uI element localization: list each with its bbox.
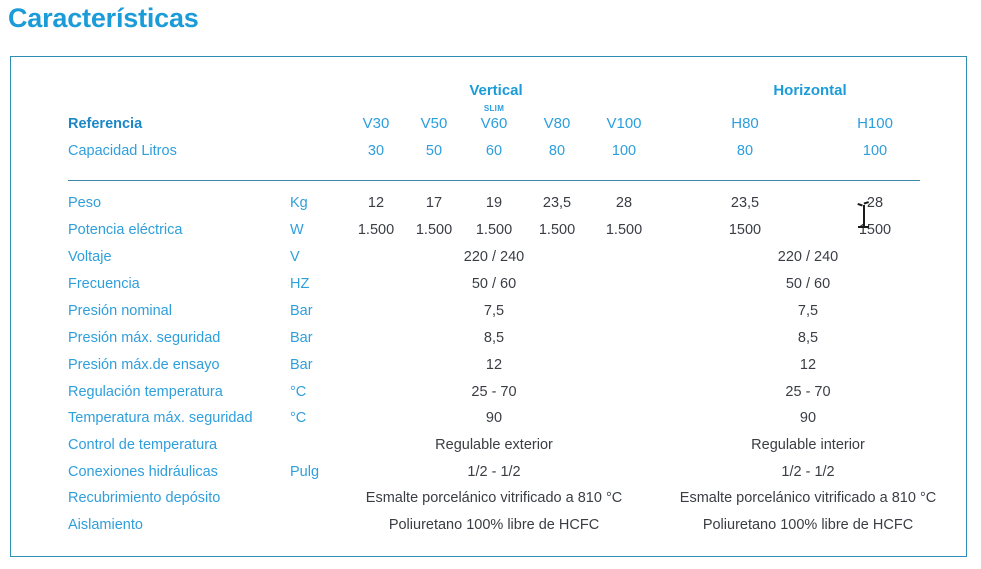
- row-label: Conexiones hidráulicas: [68, 465, 218, 480]
- row-unit: Kg: [290, 196, 308, 211]
- column-header-h100[interactable]: H100: [857, 116, 893, 131]
- capacity-value: 80: [737, 144, 753, 159]
- column-header-v100[interactable]: V100: [606, 116, 641, 131]
- capacity-value: 100: [863, 144, 887, 159]
- column-header-v60[interactable]: V60: [481, 116, 508, 131]
- table-cell-value: 1/2 - 1/2: [781, 465, 834, 480]
- row-unit: Bar: [290, 304, 313, 319]
- row-label-referencia: Referencia: [68, 117, 142, 132]
- row-label: Presión máx. seguridad: [68, 331, 220, 346]
- capacity-value: 80: [549, 144, 565, 159]
- table-cell-value: 12: [800, 358, 816, 373]
- table-cell-value: Esmalte porcelánico vitrificado a 810 °C: [366, 491, 622, 506]
- row-label: Recubrimiento depósito: [68, 491, 220, 506]
- table-cell-value: 50 / 60: [786, 277, 830, 292]
- row-unit: Pulg: [290, 465, 319, 480]
- table-cell-value: 1.500: [476, 223, 512, 238]
- table-cell-value: 220 / 240: [464, 250, 524, 265]
- table-cell-value: 1.500: [358, 223, 394, 238]
- table-cell-value: 25 - 70: [471, 385, 516, 400]
- column-header-h80[interactable]: H80: [731, 116, 759, 131]
- table-cell-value: 1500: [729, 223, 761, 238]
- group-header-horizontal: Horizontal: [773, 83, 846, 98]
- table-cell-value: 1.500: [606, 223, 642, 238]
- table-cell-value: 7,5: [484, 304, 504, 319]
- row-label: Temperatura máx. seguridad: [68, 411, 253, 426]
- table-cell-value: Esmalte porcelánico vitrificado a 810 °C: [680, 491, 936, 506]
- capacity-value: 60: [486, 144, 502, 159]
- text-cursor-icon: [858, 203, 869, 229]
- row-label: Potencia eléctrica: [68, 223, 182, 238]
- row-unit: V: [290, 250, 300, 265]
- row-label: Aislamiento: [68, 518, 143, 533]
- row-label: Frecuencia: [68, 277, 140, 292]
- group-header-vertical: Vertical: [469, 83, 522, 98]
- row-unit: °C: [290, 385, 306, 400]
- column-header-v50[interactable]: V50: [421, 116, 448, 131]
- row-unit: HZ: [290, 277, 309, 292]
- table-cell-value: Poliuretano 100% libre de HCFC: [389, 518, 599, 533]
- column-header-v80[interactable]: V80: [544, 116, 571, 131]
- table-cell-value: 28: [616, 196, 632, 211]
- table-cell-value: 7,5: [798, 304, 818, 319]
- table-cell-value: 1/2 - 1/2: [467, 465, 520, 480]
- row-label: Peso: [68, 196, 101, 211]
- table-cell-value: 12: [486, 358, 502, 373]
- table-cell-value: 12: [368, 196, 384, 211]
- row-unit: °C: [290, 411, 306, 426]
- capacity-value: 50: [426, 144, 442, 159]
- header-separator-rule: [68, 180, 920, 181]
- table-cell-value: 1.500: [539, 223, 575, 238]
- row-label: Regulación temperatura: [68, 385, 223, 400]
- table-cell-value: 50 / 60: [472, 277, 516, 292]
- slim-badge: SLIM: [484, 104, 504, 113]
- column-header-v30[interactable]: V30: [363, 116, 390, 131]
- table-cell-value: Poliuretano 100% libre de HCFC: [703, 518, 913, 533]
- table-cell-value: Regulable exterior: [435, 438, 553, 453]
- capacity-value: 100: [612, 144, 636, 159]
- table-cell-value: 25 - 70: [785, 385, 830, 400]
- table-cell-value: 28: [867, 196, 883, 211]
- row-unit: Bar: [290, 331, 313, 346]
- table-cell-value: 23,5: [543, 196, 571, 211]
- table-cell-value: 90: [800, 411, 816, 426]
- table-cell-value: 1.500: [416, 223, 452, 238]
- row-label: Voltaje: [68, 250, 112, 265]
- row-unit: W: [290, 223, 304, 238]
- table-cell-value: 19: [486, 196, 502, 211]
- specifications-table: VerticalHorizontalReferenciaSLIMV30V50V6…: [0, 0, 981, 569]
- table-cell-value: 17: [426, 196, 442, 211]
- table-cell-value: 23,5: [731, 196, 759, 211]
- table-cell-value: 8,5: [798, 331, 818, 346]
- table-cell-value: Regulable interior: [751, 438, 865, 453]
- specifications-page: Características VerticalHorizontalRefere…: [0, 0, 981, 569]
- row-label: Presión nominal: [68, 304, 172, 319]
- row-label: Control de temperatura: [68, 438, 217, 453]
- capacity-value: 30: [368, 144, 384, 159]
- table-cell-value: 8,5: [484, 331, 504, 346]
- table-cell-value: 90: [486, 411, 502, 426]
- table-cell-value: 220 / 240: [778, 250, 838, 265]
- row-label: Presión máx.de ensayo: [68, 358, 220, 373]
- row-label-capacidad-litros: Capacidad Litros: [68, 144, 177, 159]
- row-unit: Bar: [290, 358, 313, 373]
